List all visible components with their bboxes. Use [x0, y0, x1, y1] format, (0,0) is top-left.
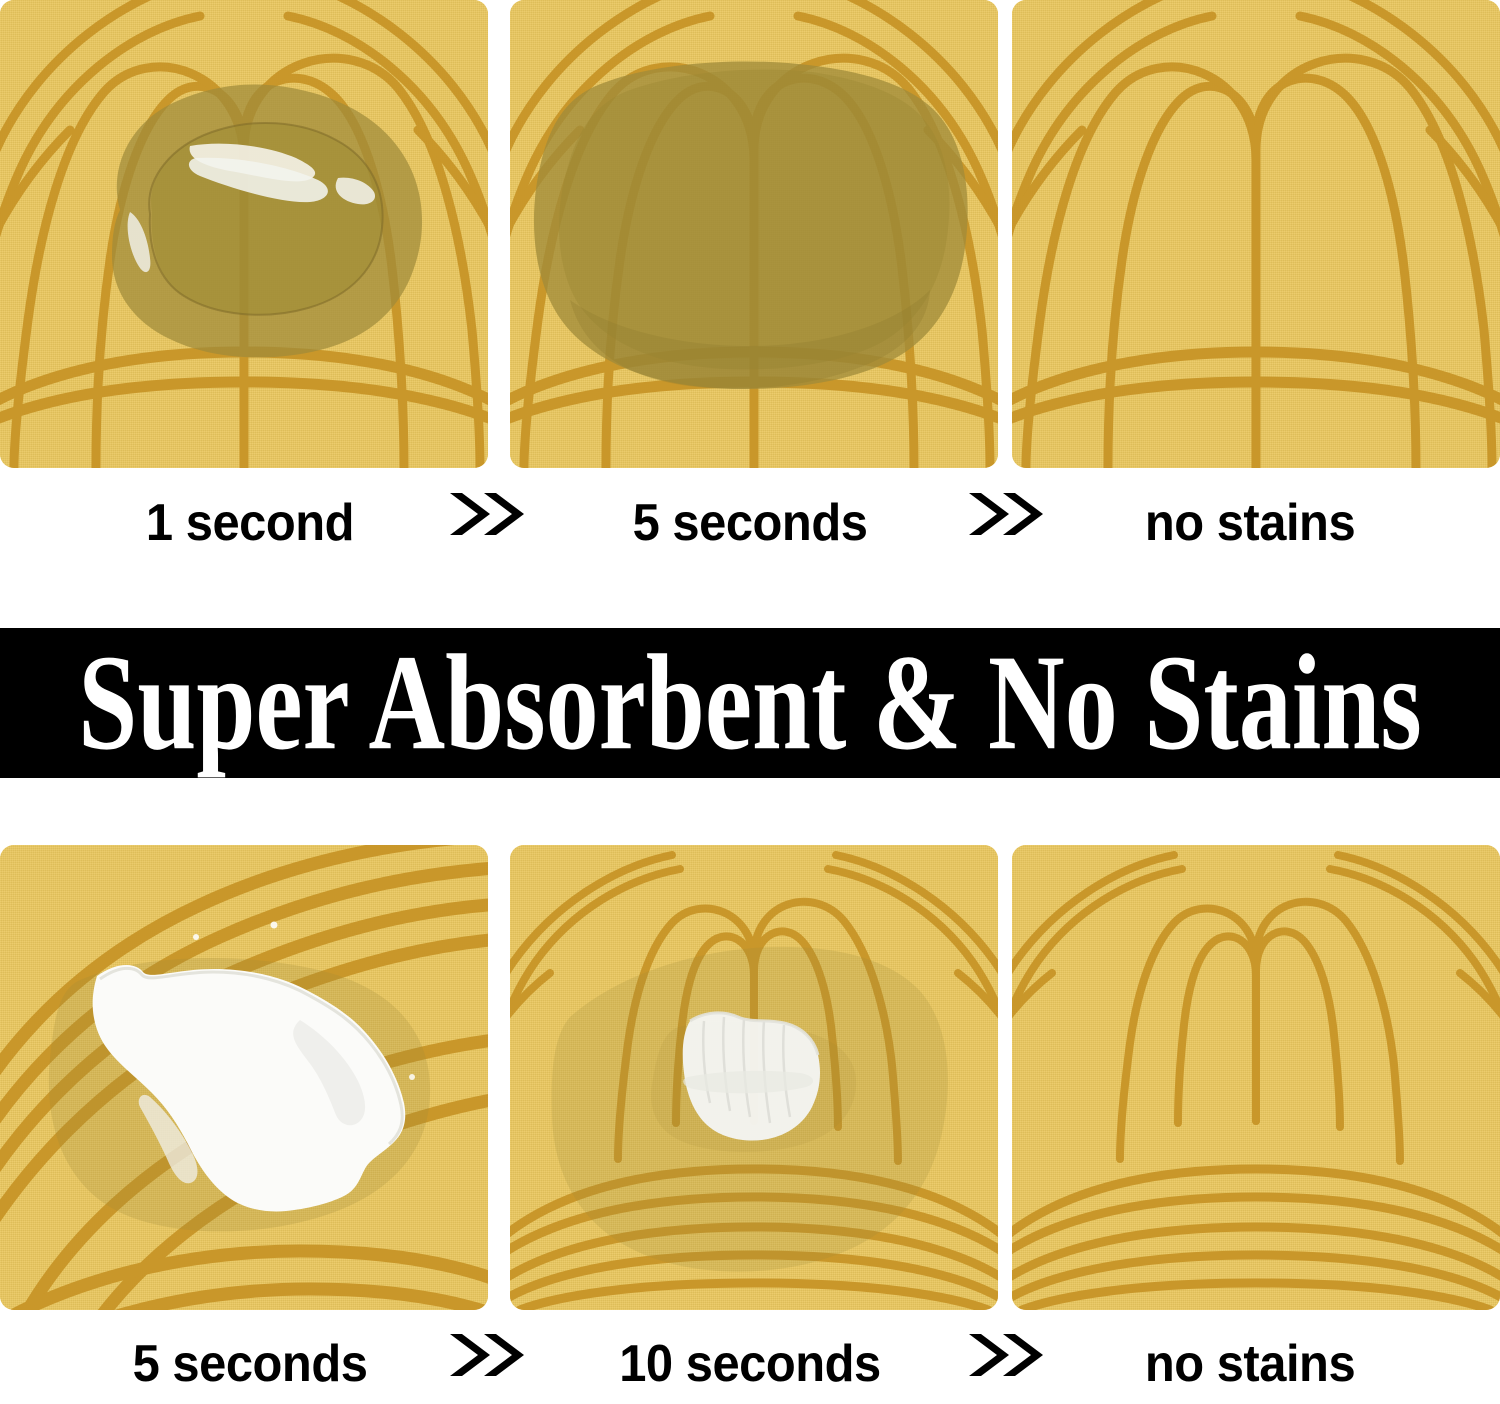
label-water-step-1: 1 second — [15, 493, 485, 553]
label-water-step-3: no stains — [1015, 493, 1485, 553]
milk-10-seconds-tile — [510, 845, 998, 1310]
double-chevron-right-icon — [444, 1328, 528, 1382]
double-chevron-right-icon — [444, 487, 528, 541]
arch-pattern — [1012, 845, 1500, 1310]
milk-residue-overlay — [510, 845, 998, 1310]
milk-spill-overlay — [0, 845, 488, 1310]
headline-text: Super Absorbent & No Stains — [75, 635, 1425, 772]
water-no-stains-tile — [1012, 0, 1500, 468]
arrow-water-1 — [441, 487, 531, 559]
arrow-water-2 — [960, 487, 1050, 559]
label-water-step-2: 5 seconds — [515, 493, 985, 553]
label-milk-step-1: 5 seconds — [15, 1334, 485, 1394]
milk-row-labels: 5 seconds 10 seconds no stains — [0, 1328, 1500, 1400]
water-5-seconds-tile — [510, 0, 998, 468]
label-milk-step-2: 10 seconds — [515, 1334, 985, 1394]
double-chevron-right-icon — [963, 487, 1047, 541]
double-chevron-right-icon — [963, 1328, 1047, 1382]
milk-no-stains-tile — [1012, 845, 1500, 1310]
water-row-labels: 1 second 5 seconds no stains — [0, 487, 1500, 559]
water-stain-overlay — [510, 0, 998, 468]
arrow-milk-1 — [441, 1328, 531, 1400]
arch-pattern — [1012, 0, 1500, 468]
water-1-second-tile — [0, 0, 488, 468]
milk-5-seconds-tile — [0, 845, 488, 1310]
headline-banner: Super Absorbent & No Stains — [0, 628, 1500, 778]
infographic-page: 1 second 5 seconds no stains Super Absor… — [0, 0, 1500, 1404]
label-milk-step-3: no stains — [1015, 1334, 1485, 1394]
arrow-milk-2 — [960, 1328, 1050, 1400]
water-stain-overlay — [0, 0, 488, 468]
